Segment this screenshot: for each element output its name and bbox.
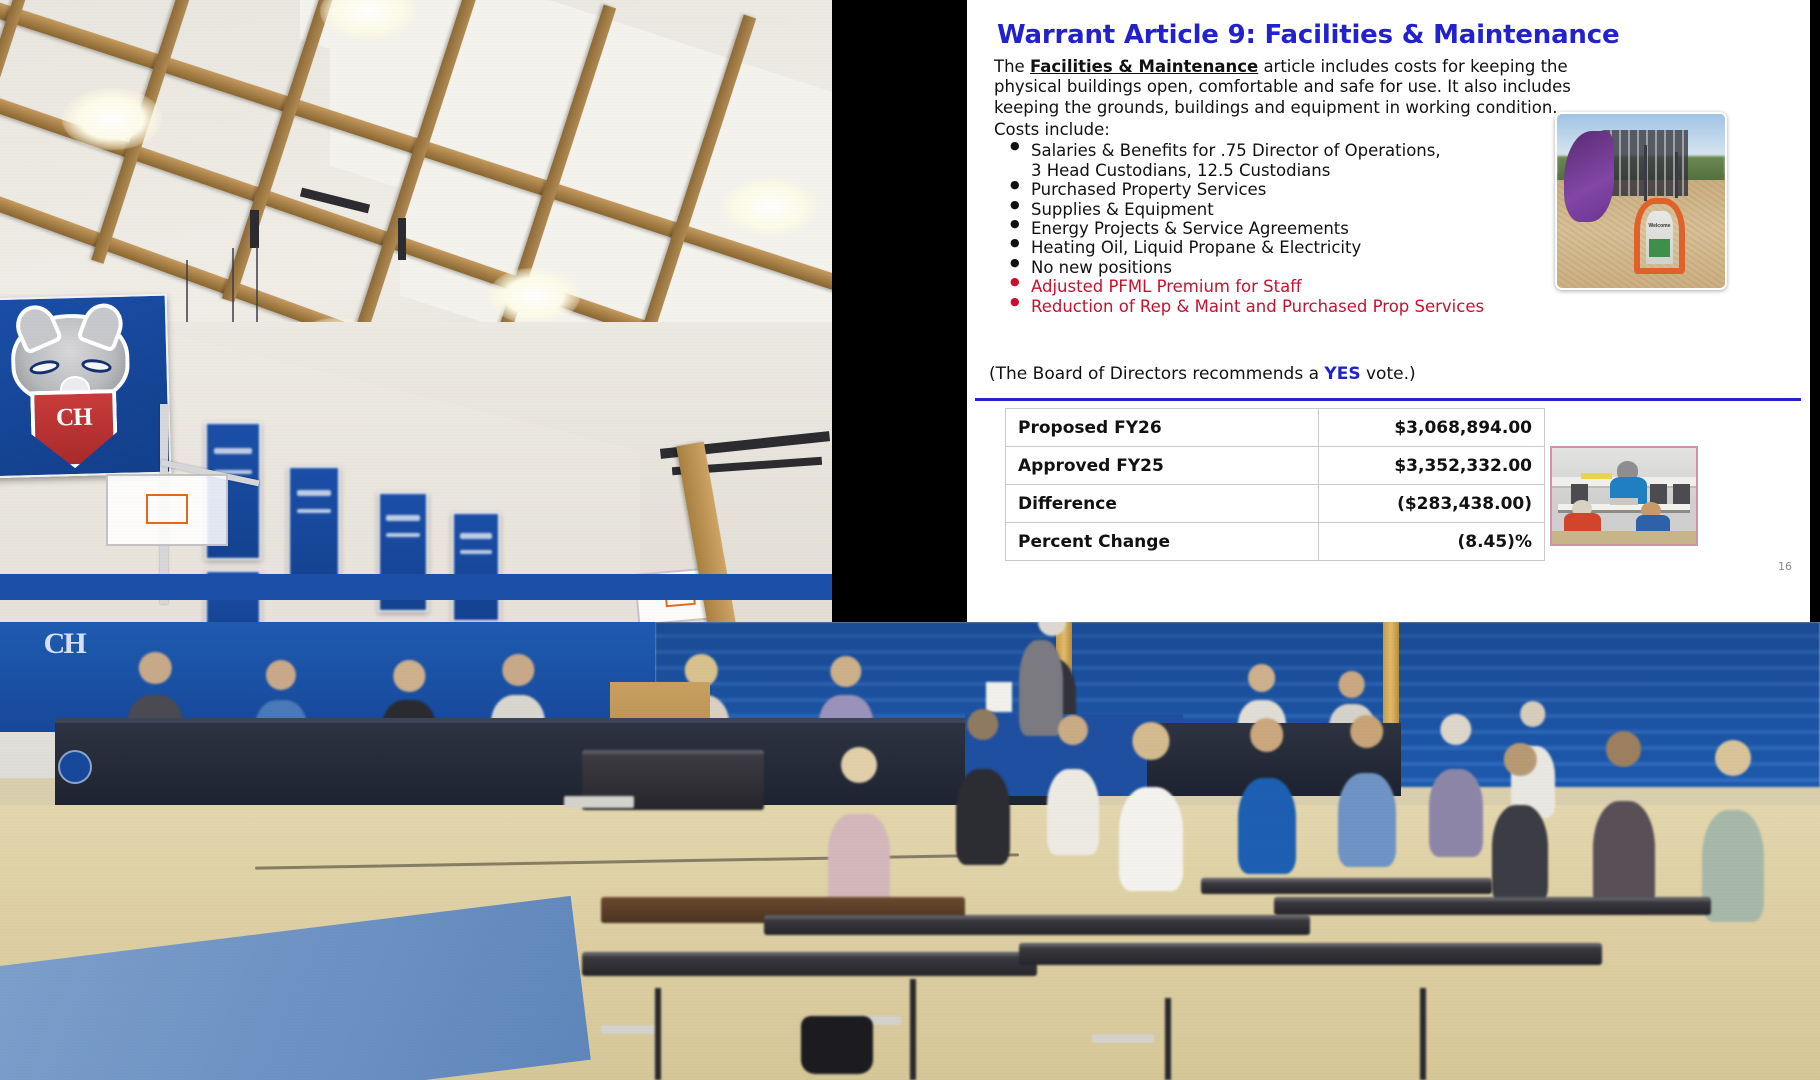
- bullet-text: Purchased Property Services: [1031, 180, 1266, 199]
- playground-photo: Welcome: [1555, 112, 1727, 290]
- letterbox-right: [1810, 0, 1820, 622]
- bullet-text: Adjusted PFML Premium for Staff: [1031, 277, 1302, 296]
- welcome-sign-panel: Welcome: [1646, 211, 1674, 264]
- slide-lead-paragraph: The Facilities & Maintenance article inc…: [994, 57, 1634, 118]
- vote-before-text: (The Board of Directors recommends a: [989, 364, 1324, 384]
- row-value: $3,352,332.00: [1318, 447, 1544, 485]
- list-item: No new positions: [994, 258, 1634, 277]
- welcome-sign-text: Welcome: [1646, 223, 1674, 229]
- costs-bullet-list: Salaries & Benefits for .75 Director of …: [994, 141, 1634, 316]
- slide-title: Warrant Article 9: Facilities & Maintena…: [997, 20, 1619, 50]
- vote-yes-text: YES: [1324, 364, 1360, 384]
- list-item-highlight: Adjusted PFML Premium for Staff: [994, 277, 1634, 296]
- bullet-text: Supplies & Equipment: [1031, 200, 1214, 219]
- video-feed-gym-ceiling[interactable]: CH: [0, 0, 832, 622]
- cafeteria-photo: [1550, 446, 1698, 546]
- bullet-text: Heating Oil, Liquid Propane & Electricit…: [1031, 238, 1361, 257]
- purple-slide: [1564, 131, 1614, 221]
- row-label: Approved FY25: [1006, 447, 1319, 485]
- table-row: Approved FY25 $3,352,332.00: [1006, 447, 1545, 485]
- photo-bin: [1673, 484, 1690, 505]
- row-value: (8.45)%: [1318, 523, 1544, 561]
- bullet-text: Salaries & Benefits for .75 Director of …: [1031, 141, 1441, 160]
- stream-stage: CH Warrant Article 9: Facilities & Maint…: [0, 0, 1820, 1080]
- table-row: Percent Change (8.45)%: [1006, 523, 1545, 561]
- bullet-continuation: 3 Head Custodians, 12.5 Custodians: [1031, 161, 1634, 180]
- bullet-text: Reduction of Rep & Maint and Purchased P…: [1031, 297, 1484, 316]
- list-item: Supplies & Equipment: [994, 200, 1634, 219]
- table-row: Difference ($283,438.00): [1006, 485, 1545, 523]
- list-item: Energy Projects & Service Agreements: [994, 219, 1634, 238]
- lead-before: The: [994, 57, 1030, 76]
- costs-include-label: Costs include:: [994, 120, 1634, 140]
- photo-lunch-tray: [1610, 498, 1639, 505]
- table-row: Proposed FY26 $3,068,894.00: [1006, 409, 1545, 447]
- welcome-sign-frame: Welcome: [1634, 198, 1684, 275]
- lead-emphasis: Facilities & Maintenance: [1030, 57, 1258, 76]
- row-value: $3,068,894.00: [1318, 409, 1544, 447]
- row-label: Difference: [1006, 485, 1319, 523]
- photo-yellow-tray: [1581, 473, 1613, 479]
- video-feed-board-meeting[interactable]: CH: [0, 622, 1820, 1080]
- video-noise-overlay: [0, 0, 832, 622]
- budget-summary-table: Proposed FY26 $3,068,894.00 Approved FY2…: [1005, 408, 1545, 561]
- play-structure-post: [1675, 152, 1678, 197]
- vote-after-text: vote.): [1361, 364, 1416, 384]
- list-item: Heating Oil, Liquid Propane & Electricit…: [994, 238, 1634, 257]
- presentation-slide[interactable]: Warrant Article 9: Facilities & Maintena…: [967, 0, 1810, 622]
- play-structure-post: [1644, 145, 1647, 201]
- slide-divider-rule: [975, 398, 1801, 401]
- welcome-sign-graphic: [1649, 239, 1670, 257]
- slide-body: The Facilities & Maintenance article inc…: [994, 57, 1634, 316]
- bullet-text: No new positions: [1031, 258, 1172, 277]
- list-item: Salaries & Benefits for .75 Director of …: [994, 141, 1634, 180]
- slide-number: 16: [1778, 560, 1792, 573]
- letterbox-gap: [832, 0, 967, 622]
- list-item-highlight: Reduction of Rep & Maint and Purchased P…: [994, 297, 1634, 316]
- row-value: ($283,438.00): [1318, 485, 1544, 523]
- video-noise-overlay: [0, 622, 1820, 1080]
- row-label: Proposed FY26: [1006, 409, 1319, 447]
- row-label: Percent Change: [1006, 523, 1319, 561]
- photo-floor: [1552, 531, 1696, 544]
- board-recommendation: (The Board of Directors recommends a YES…: [989, 364, 1416, 384]
- bullet-text: Energy Projects & Service Agreements: [1031, 219, 1349, 238]
- list-item: Purchased Property Services: [994, 180, 1634, 199]
